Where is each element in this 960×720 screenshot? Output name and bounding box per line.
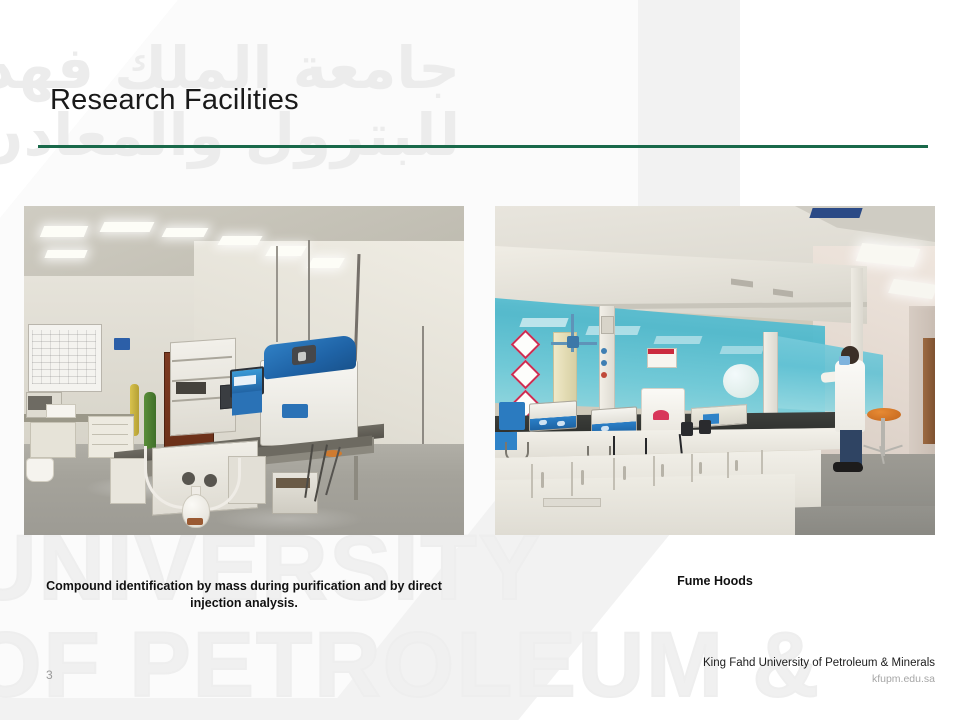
- cabinet-divider-3: [613, 458, 615, 490]
- cabinet-handle-3: [623, 466, 626, 480]
- lab-clamp: [567, 336, 579, 348]
- fumehood-control-panel: [601, 316, 614, 334]
- watermark-outline-line-2: OF PETROLEUM &: [0, 617, 730, 714]
- caption-fume-hoods-lab: Fume Hoods: [495, 573, 935, 590]
- photo-mass-spectrometry-lab: [24, 206, 464, 535]
- cabinet-handle-5: [699, 462, 702, 474]
- cabinet-drawer-front: [543, 498, 601, 507]
- cabinet-divider-5: [691, 454, 693, 482]
- blue-pump-module: [232, 390, 262, 415]
- footer-organization: King Fahd University of Petroleum & Mine…: [703, 657, 935, 669]
- hanging-cable-1: [308, 240, 310, 340]
- hotplate-knob-3: [601, 426, 609, 432]
- cabinet-handle-6: [735, 460, 738, 471]
- cabinet-handle-1: [541, 472, 544, 488]
- cabinet-divider-1: [531, 464, 533, 498]
- gas-cylinder-green: [144, 392, 156, 454]
- cabinet-divider-2: [571, 462, 573, 496]
- footer-url: kfupm.edu.sa: [872, 673, 935, 685]
- slide: جامعة الملك فهد للبترول والمعادن UNIVERS…: [0, 0, 960, 720]
- lower-cabinet-row-front: [495, 474, 795, 535]
- ceiling-light-4: [162, 228, 209, 237]
- service-valve-1: [601, 348, 607, 354]
- ceiling-light-3: [100, 222, 155, 232]
- round-bottom-flask: [723, 364, 759, 398]
- cart-leg-2: [354, 456, 358, 500]
- researcher-face-mask: [839, 356, 850, 365]
- researcher-shoes: [833, 462, 863, 472]
- caption-mass-spectrometry-lab: Compound identification by mass during p…: [24, 578, 464, 611]
- back-cabinet-1: [30, 422, 76, 458]
- ceiling-blue-marker: [809, 208, 862, 218]
- danger-sign-header: [648, 349, 674, 354]
- mass-spectrometer-brand-label: [282, 404, 308, 418]
- red-label-marking: [653, 410, 669, 420]
- wood-door-panel: [923, 338, 935, 444]
- watermark-outline-text: UNIVERSITY OF PETROLEUM &: [0, 520, 730, 713]
- ceiling-light-7: [307, 258, 345, 268]
- researcher-lab-coat: [835, 360, 865, 432]
- photo-fume-hoods-lab: [495, 206, 935, 535]
- hplc-dark-panel: [176, 382, 206, 394]
- hotplate-knob-1: [539, 420, 547, 426]
- hotplate-stirrer-1: [529, 400, 577, 431]
- page-number: 3: [46, 668, 53, 682]
- hanging-cable-2: [276, 246, 278, 342]
- wall-seam-secondary: [422, 326, 424, 456]
- cabinet-divider-4: [653, 456, 655, 486]
- floor-bucket: [26, 458, 54, 482]
- blue-wall-sign: [114, 338, 130, 350]
- title-divider: [38, 145, 928, 148]
- cabinet-divider-7: [761, 450, 763, 474]
- power-socket-2: [699, 420, 711, 434]
- ceiling-light-1: [40, 226, 88, 237]
- page-title: Research Facilities: [50, 84, 299, 117]
- drawer-line-3: [92, 444, 128, 445]
- waste-bottle-label: [187, 518, 203, 525]
- researcher-legs: [840, 430, 862, 466]
- cabinet-divider-6: [727, 452, 729, 478]
- service-valve-3: [601, 372, 607, 378]
- side-cabinet-left: [110, 458, 146, 504]
- glass-reflection-1: [519, 318, 568, 327]
- mass-spectrometer-window-highlight: [298, 352, 306, 362]
- cabinet-handle-2: [581, 470, 584, 485]
- ceiling-light-5: [217, 236, 262, 245]
- ceiling-light-6: [265, 246, 307, 256]
- drawer-line-1: [92, 424, 128, 425]
- white-storage-box: [46, 404, 76, 418]
- hotplate-knob-2: [557, 421, 565, 427]
- glass-reflection-4: [720, 346, 765, 354]
- cabinet-handle-4: [661, 464, 664, 477]
- drawer-line-2: [92, 434, 128, 435]
- glass-reflection-3: [654, 336, 703, 344]
- blue-container-1: [499, 402, 525, 430]
- power-socket-1: [681, 422, 693, 436]
- whiteboard-grid: [32, 330, 96, 384]
- service-valve-2: [601, 360, 607, 366]
- ceiling-light-2: [44, 250, 87, 258]
